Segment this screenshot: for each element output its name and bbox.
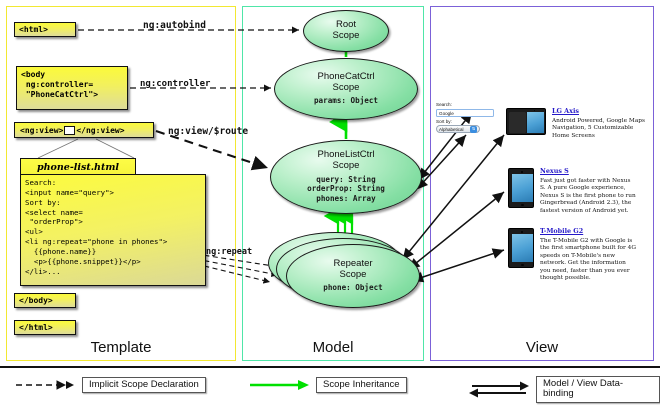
panel-model-label: Model [243,339,423,356]
scope-phonecatctrl-title-line2: Scope [333,82,360,93]
code-tag-html-open: <html> [14,22,76,37]
code-tag-body-open: <body ng:controller= "PhoneCatCtrl"> [16,66,128,110]
panel-template-label: Template [7,339,235,356]
green-arrow-icon [248,376,310,394]
phone-thumbnail-tmobile-g2 [508,228,534,268]
legend-item-implicit-scope-declaration: Implicit Scope Declaration [14,376,206,394]
ngview-open-tag: <ng:view> [20,126,63,135]
scope-phonelistctrl-props: query: String orderProp: String phones: … [307,175,385,205]
template-file-note: phone-list.html Search: <input name="que… [20,158,206,286]
scope-repeater: RepeaterScope phone: Object [286,244,420,308]
scope-phonecatctrl: PhoneCatCtrlScope params: Object [274,58,418,120]
phone-name-link[interactable]: T-Mobile G2 [540,228,636,236]
phone-thumbnail-lg-axis [506,108,546,135]
phone-thumbnail-nexus-s [508,168,534,208]
legend-label-databinding: Model / View Data-binding [536,376,660,403]
scope-phonelistctrl-title-line2: Scope [333,160,360,171]
code-tag-ngview: <ng:view></ng:view> [14,122,154,138]
diagram-canvas: Template Model View [0,0,660,405]
scope-root-title-line2: Scope [333,30,360,41]
legend-item-scope-inheritance: Scope Inheritance [248,376,407,394]
code-tag-body-close: </body> [14,293,76,308]
legend-item-data-binding: Model / View Data-binding [468,376,660,403]
scope-phonelistctrl-title-line1: PhoneListCtrl [317,149,374,160]
connector-label-controller: ng:controller [140,79,210,89]
scope-repeater-props: phone: Object [323,283,382,293]
search-input[interactable]: Google [436,109,494,117]
phone-list-item[interactable]: T-Mobile G2 The T-Mobile G2 with Google … [508,228,636,283]
phone-snippet: Fast just got faster with Nexus S. A pur… [540,178,636,216]
code-tag-html-close: </html> [14,320,76,335]
template-file-name: phone-list.html [20,158,136,175]
chevron-updown-icon: ⇅ [470,126,477,133]
double-arrow-icon [468,380,530,398]
phone-list-item[interactable]: Nexus S Fast just got faster with Nexus … [508,168,636,215]
scope-phonecatctrl-props: params: Object [314,96,378,106]
sort-select[interactable]: Alphabetical ⇅ [436,125,480,133]
phone-list-item[interactable]: LG Axis Android Powered, Google Maps Nav… [506,108,648,140]
phone-name-link[interactable]: Nexus S [540,168,636,176]
panel-view-label: View [431,339,653,356]
connector-label-ngview-route: ng:view/$route [168,126,248,137]
ngview-close-tag: </ng:view> [76,126,124,135]
scope-phonecatctrl-title-line1: PhoneCatCtrl [317,71,374,82]
search-label: Search: [436,102,498,108]
scope-root: RootScope [303,10,389,52]
view-search-form: Search: Google Sort by: Alphabetical ⇅ [436,102,498,133]
scope-phonelistctrl: PhoneListCtrlScope query: String orderPr… [270,140,422,214]
legend: Implicit Scope Declaration Scope Inherit… [0,366,660,407]
sort-label: Sort by: [436,119,498,125]
connector-label-autobind: ng:autobind [143,20,206,31]
scope-root-title-line1: Root [336,19,356,30]
dashed-arrow-icon [14,376,76,394]
template-file-code: Search: <input name="query"> Sort by: <s… [20,174,206,286]
ngview-placeholder-icon [64,126,75,135]
connector-label-ngrepeat: ng:repeat [206,247,252,257]
phone-snippet: Android Powered, Google Maps Navigation,… [552,118,648,141]
phone-name-link[interactable]: LG Axis [552,108,648,116]
scope-repeater-title-line1: Repeater [333,258,372,269]
phone-snippet: The T-Mobile G2 with Google is the first… [540,238,636,283]
scope-repeater-title-line2: Scope [340,269,367,280]
sort-select-value: Alphabetical [439,126,464,133]
legend-label-implicit: Implicit Scope Declaration [82,377,206,393]
legend-label-inheritance: Scope Inheritance [316,377,407,393]
